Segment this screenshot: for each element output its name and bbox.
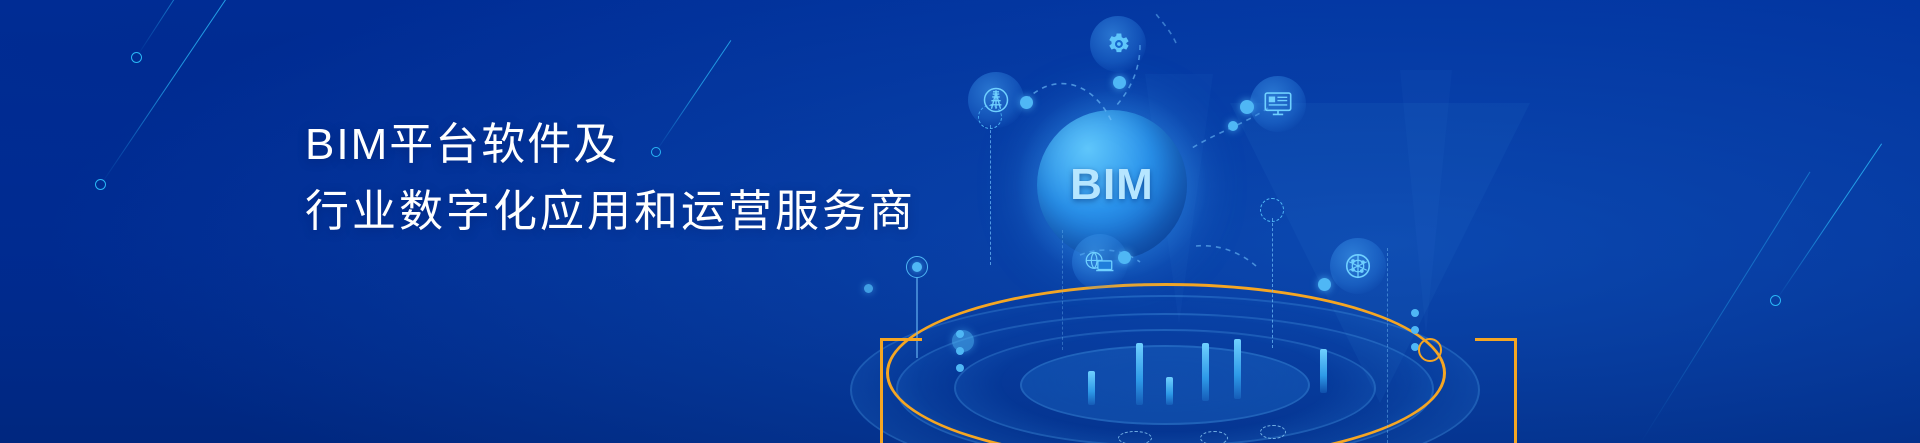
orange-ring-marker	[1418, 338, 1442, 362]
connector-node	[1318, 278, 1331, 291]
network-node-icon-bubble[interactable]	[1330, 238, 1386, 294]
page-title: BIM平台软件及 行业数字化应用和运营服务商	[305, 112, 916, 246]
scatter-dot	[864, 284, 873, 293]
power-tower-icon-bubble[interactable]	[968, 72, 1024, 128]
dot	[956, 347, 964, 355]
dot	[1411, 309, 1419, 317]
connector-node	[1118, 251, 1131, 264]
dot	[1411, 326, 1419, 334]
lollipop-marker-dot	[912, 262, 922, 272]
network-node-icon	[1343, 251, 1373, 281]
monitor-icon-bubble[interactable]	[1250, 76, 1306, 132]
bracket-left	[880, 338, 922, 443]
globe-laptop-icon	[1084, 250, 1116, 274]
headline-line-1: BIM平台软件及	[305, 112, 916, 179]
decorative-circle-2	[131, 52, 142, 63]
connector-node	[1113, 76, 1126, 89]
bim-illustration: BIM	[840, 0, 1920, 443]
dot	[956, 364, 964, 372]
connector-node	[1020, 96, 1033, 109]
bracket-right	[1475, 338, 1517, 443]
connector-node-small	[1228, 121, 1238, 131]
power-tower-icon	[981, 85, 1011, 115]
gear-icon	[1104, 30, 1132, 58]
headline-line-2: 行业数字化应用和运营服务商	[305, 179, 916, 246]
connector-node	[1240, 100, 1254, 114]
connector-curves	[840, 0, 1920, 443]
dashed-vertical-guide	[1387, 248, 1388, 443]
dot-column-left	[956, 330, 964, 381]
monitor-icon	[1263, 91, 1293, 117]
decorative-circle-1	[95, 179, 106, 190]
gear-icon-bubble[interactable]	[1090, 16, 1146, 72]
hero-banner: BIM平台软件及 行业数字化应用和运营服务商 BIM	[0, 0, 1920, 443]
dashed-vertical-guide-2	[1062, 230, 1063, 350]
dot	[956, 330, 964, 338]
